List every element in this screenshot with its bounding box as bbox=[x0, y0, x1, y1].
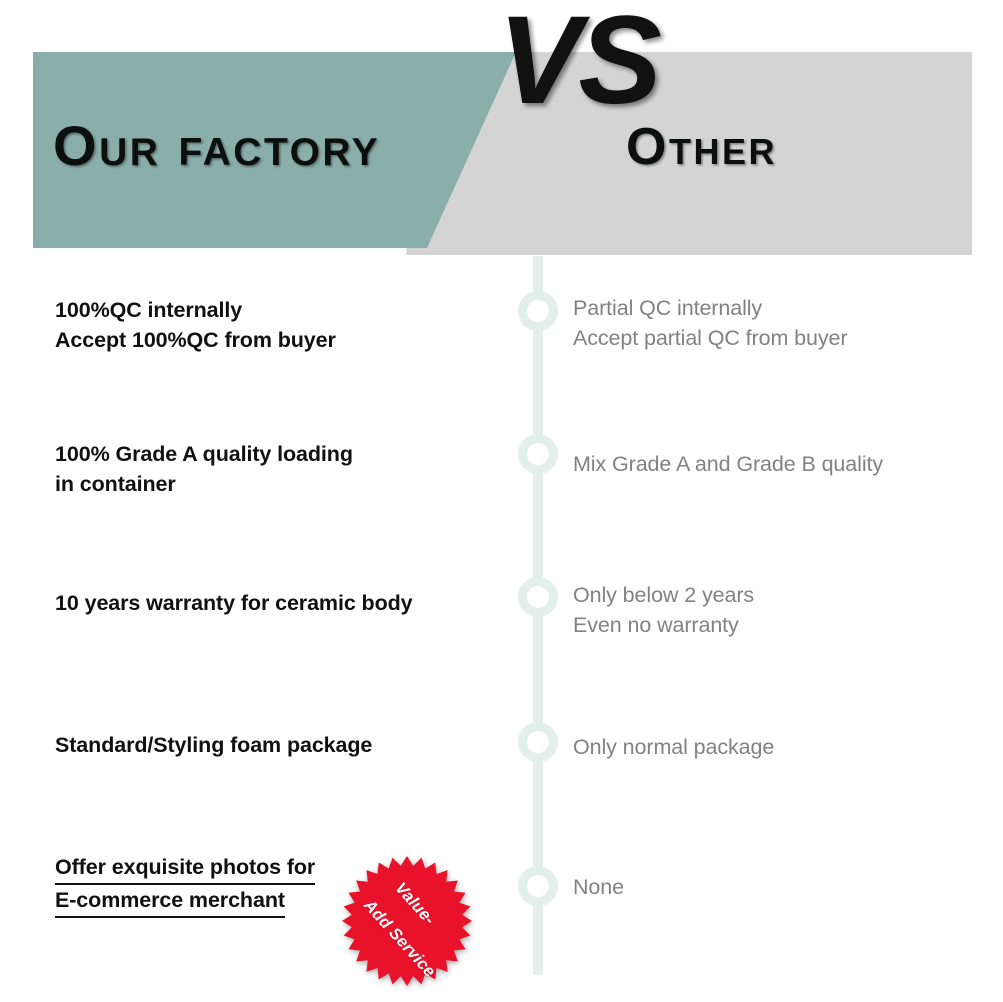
row-right-line: Only below 2 years bbox=[573, 580, 988, 610]
row-left-line: 100%QC internally bbox=[55, 295, 525, 325]
row-right-line: Accept partial QC from buyer bbox=[573, 323, 988, 353]
row-right-text: Mix Grade A and Grade B quality bbox=[573, 449, 988, 479]
row-right-text: Only normal package bbox=[573, 732, 988, 762]
row-right-line: Only normal package bbox=[573, 732, 988, 762]
row-left-line: 10 years warranty for ceramic body bbox=[55, 588, 525, 618]
row-left-line: 100% Grade A quality loading bbox=[55, 439, 525, 469]
row-left-text: 100% Grade A quality loading in containe… bbox=[55, 439, 525, 499]
row-right-line: Partial QC internally bbox=[573, 293, 988, 323]
row-left-text: 10 years warranty for ceramic body bbox=[55, 588, 525, 618]
row-left-line: Accept 100%QC from buyer bbox=[55, 325, 525, 355]
starburst-icon bbox=[341, 855, 473, 987]
row-right-line: Mix Grade A and Grade B quality bbox=[573, 449, 988, 479]
header-banner: Our Factory Other VS bbox=[0, 0, 1003, 262]
row-right-text: Only below 2 years Even no warranty bbox=[573, 580, 988, 640]
row-right-text: Partial QC internally Accept partial QC … bbox=[573, 293, 988, 353]
row-right-line: None bbox=[573, 872, 988, 902]
row-left-text: 100%QC internally Accept 100%QC from buy… bbox=[55, 295, 525, 355]
row-left-text: Standard/Styling foam package bbox=[55, 730, 525, 760]
row-left-line: E-commerce merchant bbox=[55, 885, 285, 918]
vs-label: VS bbox=[498, 0, 659, 123]
comparison-infographic: Our Factory Other VS 100%QC internally A… bbox=[0, 0, 1003, 1002]
row-left-line: in container bbox=[55, 469, 525, 499]
row-right-line: Even no warranty bbox=[573, 610, 988, 640]
value-add-service-badge: Value- Add Service bbox=[341, 855, 473, 987]
row-left-line: Offer exquisite photos for bbox=[55, 852, 315, 885]
row-left-line: Standard/Styling foam package bbox=[55, 730, 525, 760]
header-title-our-factory: Our Factory bbox=[53, 116, 380, 176]
row-right-text: None bbox=[573, 872, 988, 902]
